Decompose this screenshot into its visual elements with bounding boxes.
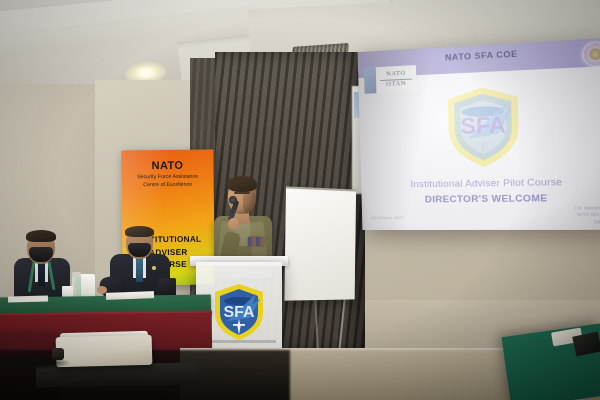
conference-room-photo: NATO SFA COE NATO OTAN SFA <box>0 0 600 400</box>
slide-title: Institutional Adviser Pilot Course <box>361 176 600 191</box>
flipchart-board <box>284 186 356 300</box>
projection-screen: NATO SFA COE NATO OTAN SFA <box>358 38 600 230</box>
banner-subtitle-line1: Security Force Assistance <box>126 174 210 183</box>
podium-sfa-text: SFA <box>223 304 255 321</box>
coe-crest-inner <box>589 48 600 60</box>
slide-surface: NATO SFA COE NATO OTAN SFA <box>358 38 600 230</box>
lapel-pin-icon <box>152 266 156 270</box>
speaker-hair <box>227 176 257 192</box>
medal-ribbons <box>248 237 264 246</box>
banner-subtitle: Security Force Assistance Centre of Exce… <box>122 174 214 190</box>
slide-subtitle: DIRECTOR'S WELCOME <box>361 192 600 206</box>
speaker-brow <box>234 192 250 194</box>
sfa-shield-logo: SFA <box>443 83 524 171</box>
podium-sfa-shield-logo: SFA <box>212 282 266 342</box>
seated-left-tie <box>38 262 45 286</box>
credit-line-2: NATO SFA COE <box>575 212 600 219</box>
credit-line-3: Director <box>575 219 600 226</box>
seated-right-tie <box>136 258 143 282</box>
banner-org-name: NATO <box>121 160 213 173</box>
seated-left-hair <box>26 230 56 242</box>
cables <box>0 356 70 370</box>
speaker-hand <box>228 218 239 230</box>
projector <box>56 335 153 368</box>
seated-right-hair <box>125 226 154 237</box>
podium-shelf <box>202 340 276 343</box>
downlight-core <box>138 68 154 77</box>
nato-logo-line2: OTAN <box>376 80 416 89</box>
water-bottle-cap <box>72 272 81 277</box>
slide-date-note: 28 October 2021 <box>371 215 404 220</box>
slide-credit-block: Col. Massimo BX NATO SFA COE Director <box>574 205 600 225</box>
nato-star-icon <box>364 67 377 94</box>
nato-otan-logo: NATO OTAN <box>364 65 417 94</box>
papers-on-table <box>8 295 48 302</box>
nato-otan-wordmark: NATO OTAN <box>376 70 417 89</box>
banner-subtitle-line2: Centre of Excellence <box>126 181 210 190</box>
microphone-head-icon <box>229 196 237 204</box>
sfa-shield-text: SFA <box>460 112 506 140</box>
